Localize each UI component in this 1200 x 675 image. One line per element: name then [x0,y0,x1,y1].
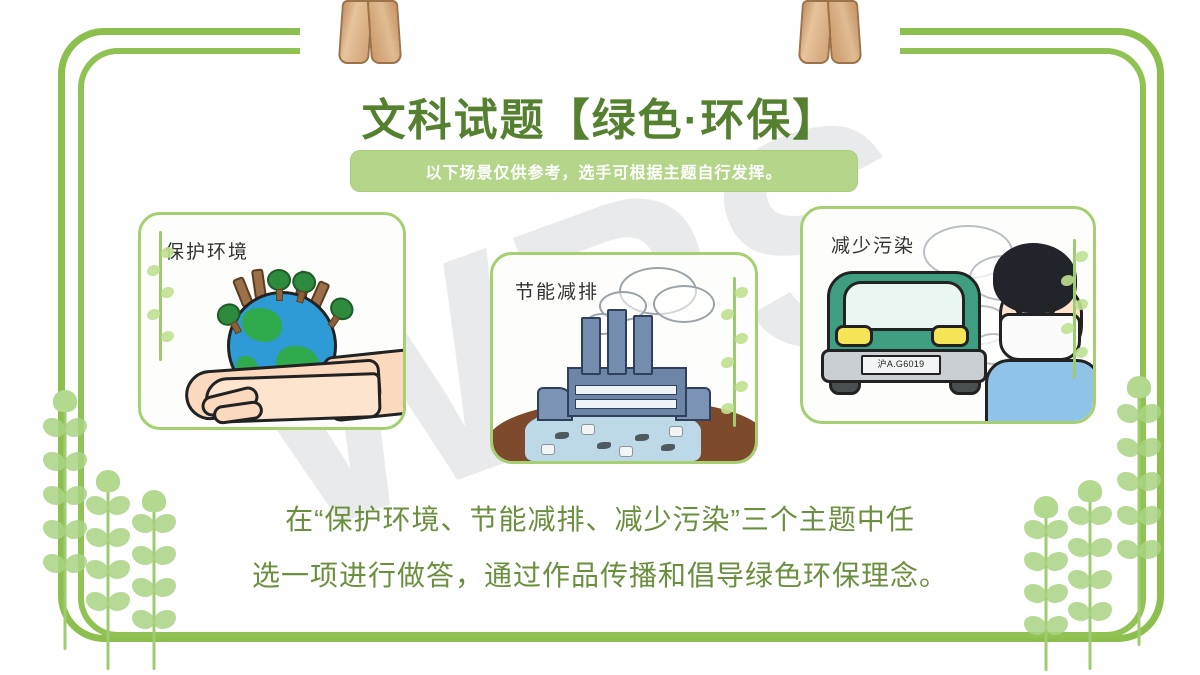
headlight-right [931,325,969,347]
dead-fish-2 [597,442,611,449]
smoke-cloud-2 [653,285,715,323]
scenario-card-energy-saving[interactable]: 节能减排 [490,252,758,464]
trash-3 [619,446,633,457]
clip-right-half-b [827,0,862,64]
sprig-right-2 [1068,490,1112,670]
sprig-left-1 [40,400,90,650]
headlight-left [835,325,873,347]
trash-1 [541,444,555,455]
dead-fish-1 [555,432,569,439]
card-3-label: 减少污染 [831,231,915,258]
slide-stage: WPS 文科试题【绿色·环保】 以下场景仅供参考，选手可根据主题自行发挥。 保护… [0,0,1200,675]
instruction-line-1: 在“保护环境、节能减排、减少污染”三个主题中任 [0,492,1200,548]
car-windshield [843,281,965,331]
sprig-left-2 [86,480,130,670]
smokestack-3 [633,315,653,375]
trash-2 [581,424,595,435]
factory-window-row-2 [575,399,677,409]
subtitle-banner: 以下场景仅供参考，选手可根据主题自行发挥。 [350,150,858,192]
scenario-card-protect-environment[interactable]: 保护环境 [138,212,406,430]
card-1-leaf-decoration [145,231,175,361]
subtitle-banner-text: 以下场景仅供参考，选手可根据主题自行发挥。 [425,159,782,183]
instruction-paragraph: 在“保护环境、节能减排、减少污染”三个主题中任 选一项进行做答，通过作品传播和倡… [0,492,1200,604]
factory-window-row-1 [575,385,677,395]
dead-fish-3 [635,434,649,441]
page-title: 文科试题【绿色·环保】 [0,84,1200,148]
smokestack-2 [607,309,627,375]
license-plate: 沪A.G6019 [861,355,941,375]
sprig-right-1 [1114,386,1164,646]
boy-eye-left [1015,303,1024,314]
scenario-card-reduce-pollution[interactable]: 减少污染 沪A.G6019 [800,206,1096,424]
sprig-right-3 [1026,506,1066,671]
sprig-left-3 [134,500,174,670]
instruction-line-2: 选一项进行做答，通过作品传播和倡导绿色环保理念。 [0,548,1200,604]
card-2-label: 节能减排 [515,277,599,304]
clip-left-half-b [367,0,402,64]
card-2-leaf-decoration [719,277,749,427]
smokestack-1 [581,317,601,375]
card-1-label: 保护环境 [165,237,249,264]
clip-right [800,0,862,62]
boy-eye-right [1047,303,1056,314]
clip-left [340,0,402,62]
dead-fish-4 [661,444,675,451]
card-3-leaf-decoration [1059,239,1089,379]
trash-4 [669,426,683,437]
